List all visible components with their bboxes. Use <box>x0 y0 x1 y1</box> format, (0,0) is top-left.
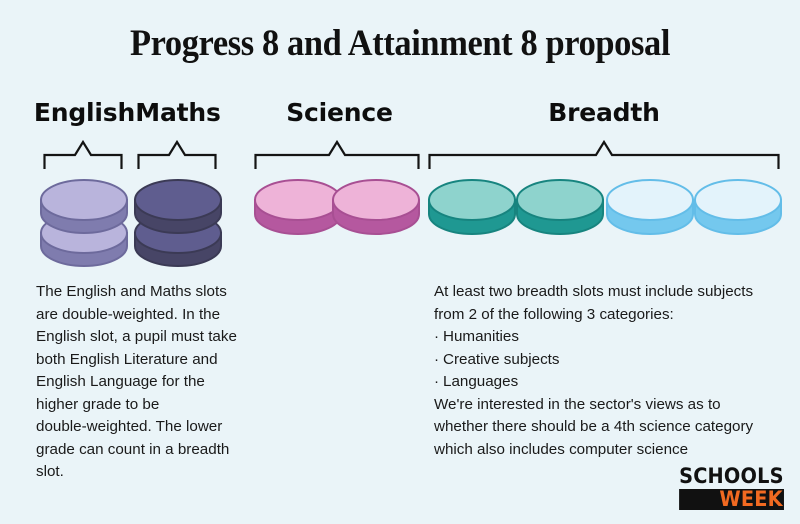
group-label-english: English <box>32 98 137 127</box>
note-right-intro-line-1: At least two breadth slots must include … <box>434 281 774 304</box>
note-left-line-6: higher grade to be <box>36 394 266 417</box>
note-left-line-7: double-weighted. The lower <box>36 416 266 439</box>
page-title: Progress 8 and Attainment 8 proposal <box>28 22 772 65</box>
bracket-science <box>254 139 420 169</box>
note-right: At least two breadth slots must include … <box>434 281 774 461</box>
slot-maths-double <box>132 176 224 266</box>
disc-upper <box>41 180 127 233</box>
note-left: The English and Maths slots are double-w… <box>36 281 266 484</box>
slot-science-2 <box>330 176 422 238</box>
note-right-outro-line-1: We're interested in the sector's views a… <box>434 394 774 417</box>
bullet-label: Languages <box>443 373 518 390</box>
bullet-dot-icon: · <box>434 371 443 394</box>
slot-breadth-2 <box>514 176 606 238</box>
note-right-bullet-languages: ·Languages <box>434 371 774 394</box>
note-left-line-1: The English and Maths slots <box>36 281 266 304</box>
note-right-bullet-humanities: ·Humanities <box>434 326 774 349</box>
bracket-maths <box>137 139 217 169</box>
note-right-outro-line-3: which also includes computer science <box>434 439 774 462</box>
slot-breadth-4 <box>692 176 784 238</box>
note-right-outro-line-2: whether there should be a 4th science ca… <box>434 416 774 439</box>
group-label-maths: Maths <box>130 98 226 127</box>
schools-week-logo: SCHOOLS WEEK <box>670 466 784 510</box>
bullet-dot-icon: · <box>434 326 443 349</box>
bracket-breadth <box>428 139 780 169</box>
disc-upper <box>135 180 221 233</box>
note-left-line-4: both English Literature and <box>36 349 266 372</box>
bullet-dot-icon: · <box>434 349 443 372</box>
note-left-line-8: grade can count in a breadth <box>36 439 266 462</box>
note-right-bullet-creative-subjects: ·Creative subjects <box>434 349 774 372</box>
slot-breadth-3 <box>604 176 696 238</box>
slot-breadth-1 <box>426 176 518 238</box>
note-left-line-3: English slot, a pupil must take <box>36 326 266 349</box>
bracket-english <box>43 139 123 169</box>
note-left-line-5: English Language for the <box>36 371 266 394</box>
note-left-line-2: are double-weighted. In the <box>36 304 266 327</box>
logo-text-week: WEEK <box>679 489 784 510</box>
group-label-breadth: Breadth <box>428 98 780 127</box>
bullet-label: Humanities <box>443 328 519 345</box>
note-left-line-9: slot. <box>36 461 266 484</box>
slot-english-double <box>38 176 130 266</box>
infographic-root: Progress 8 and Attainment 8 proposal Eng… <box>0 0 800 524</box>
note-right-intro-line-2: from 2 of the following 3 categories: <box>434 304 774 327</box>
group-label-science: Science <box>258 98 421 127</box>
bullet-label: Creative subjects <box>443 351 560 368</box>
logo-text-schools: SCHOOLS <box>679 466 784 487</box>
